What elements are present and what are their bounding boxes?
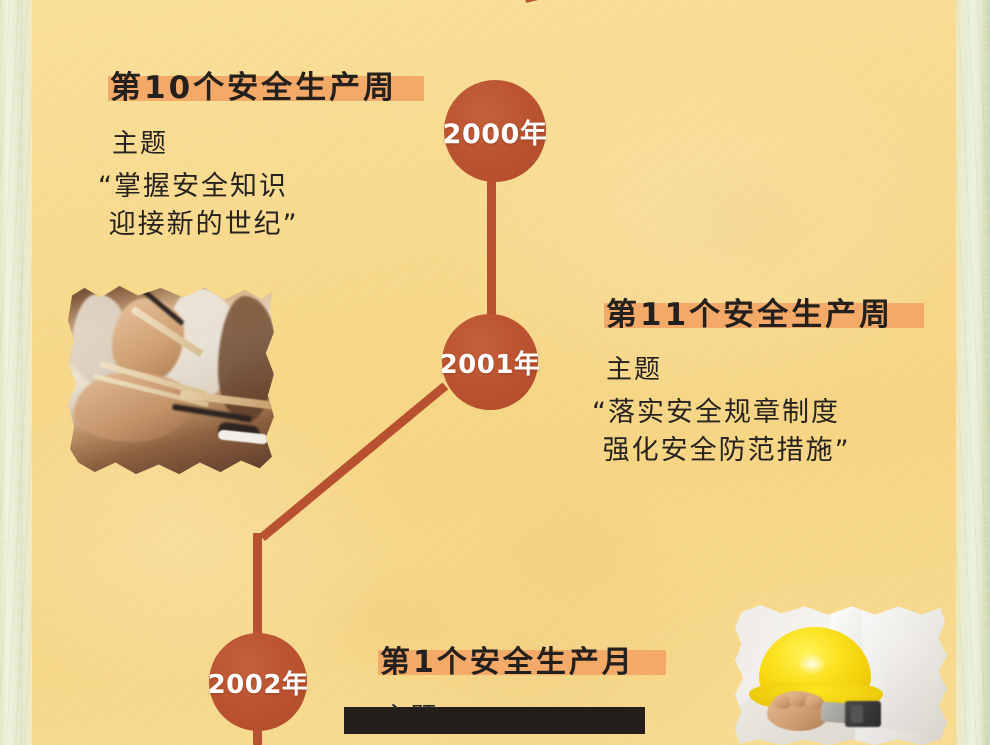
entry-week-11-theme-label: 主题 xyxy=(606,352,662,389)
entry-week-10-heading: 第10个安全生产周 xyxy=(110,62,397,107)
entry-month-1-heading: 第1个安全生产月 xyxy=(380,637,635,681)
entry-week-11-heading: 第11个安全生产周 xyxy=(606,289,893,334)
timeline-node-2000-label: 2000年 xyxy=(443,112,548,151)
photo-hardhat-glove-detail xyxy=(851,705,863,723)
photo-craft xyxy=(68,284,274,476)
timeline-node-2001-label: 2001年 xyxy=(440,344,541,381)
entry-month-1-theme-text: “ ” xyxy=(368,740,632,745)
timeline-node-2002-label: 2002年 xyxy=(208,664,309,701)
timeline-segment-corner-2002 xyxy=(253,533,262,643)
timeline-node-2000[interactable]: 2000年 xyxy=(444,80,546,182)
infographic-canvas: 2000年 2001年 2002年 第10个安全生产周 主题 “掌握安全知识 迎… xyxy=(0,0,990,745)
timeline-node-2002[interactable]: 2002年 xyxy=(209,633,307,731)
photo-hardhat-helmet-highlight xyxy=(797,653,827,675)
timeline-segment-2000-2001 xyxy=(487,176,496,321)
paper-smudge xyxy=(470,470,680,620)
right-edge-strip xyxy=(956,0,990,745)
entry-week-11-theme-text: “落实安全规章制度 强化安全防范措施” xyxy=(592,394,851,471)
entry-week-10-theme-text: “掌握安全知识 迎接新的世纪” xyxy=(98,168,299,245)
timeline-node-2001[interactable]: 2001年 xyxy=(442,314,538,410)
left-edge-strip xyxy=(0,0,34,745)
photo-hardhat-finger xyxy=(789,693,807,707)
entry-week-10-theme-label: 主题 xyxy=(112,126,168,163)
entry-month-1-redaction-bar xyxy=(344,707,645,734)
photo-hardhat xyxy=(735,605,947,745)
paper-smudge xyxy=(640,150,840,290)
photo-hardhat-finger xyxy=(805,695,823,709)
photo-hardhat-shirt-fold xyxy=(881,633,929,732)
